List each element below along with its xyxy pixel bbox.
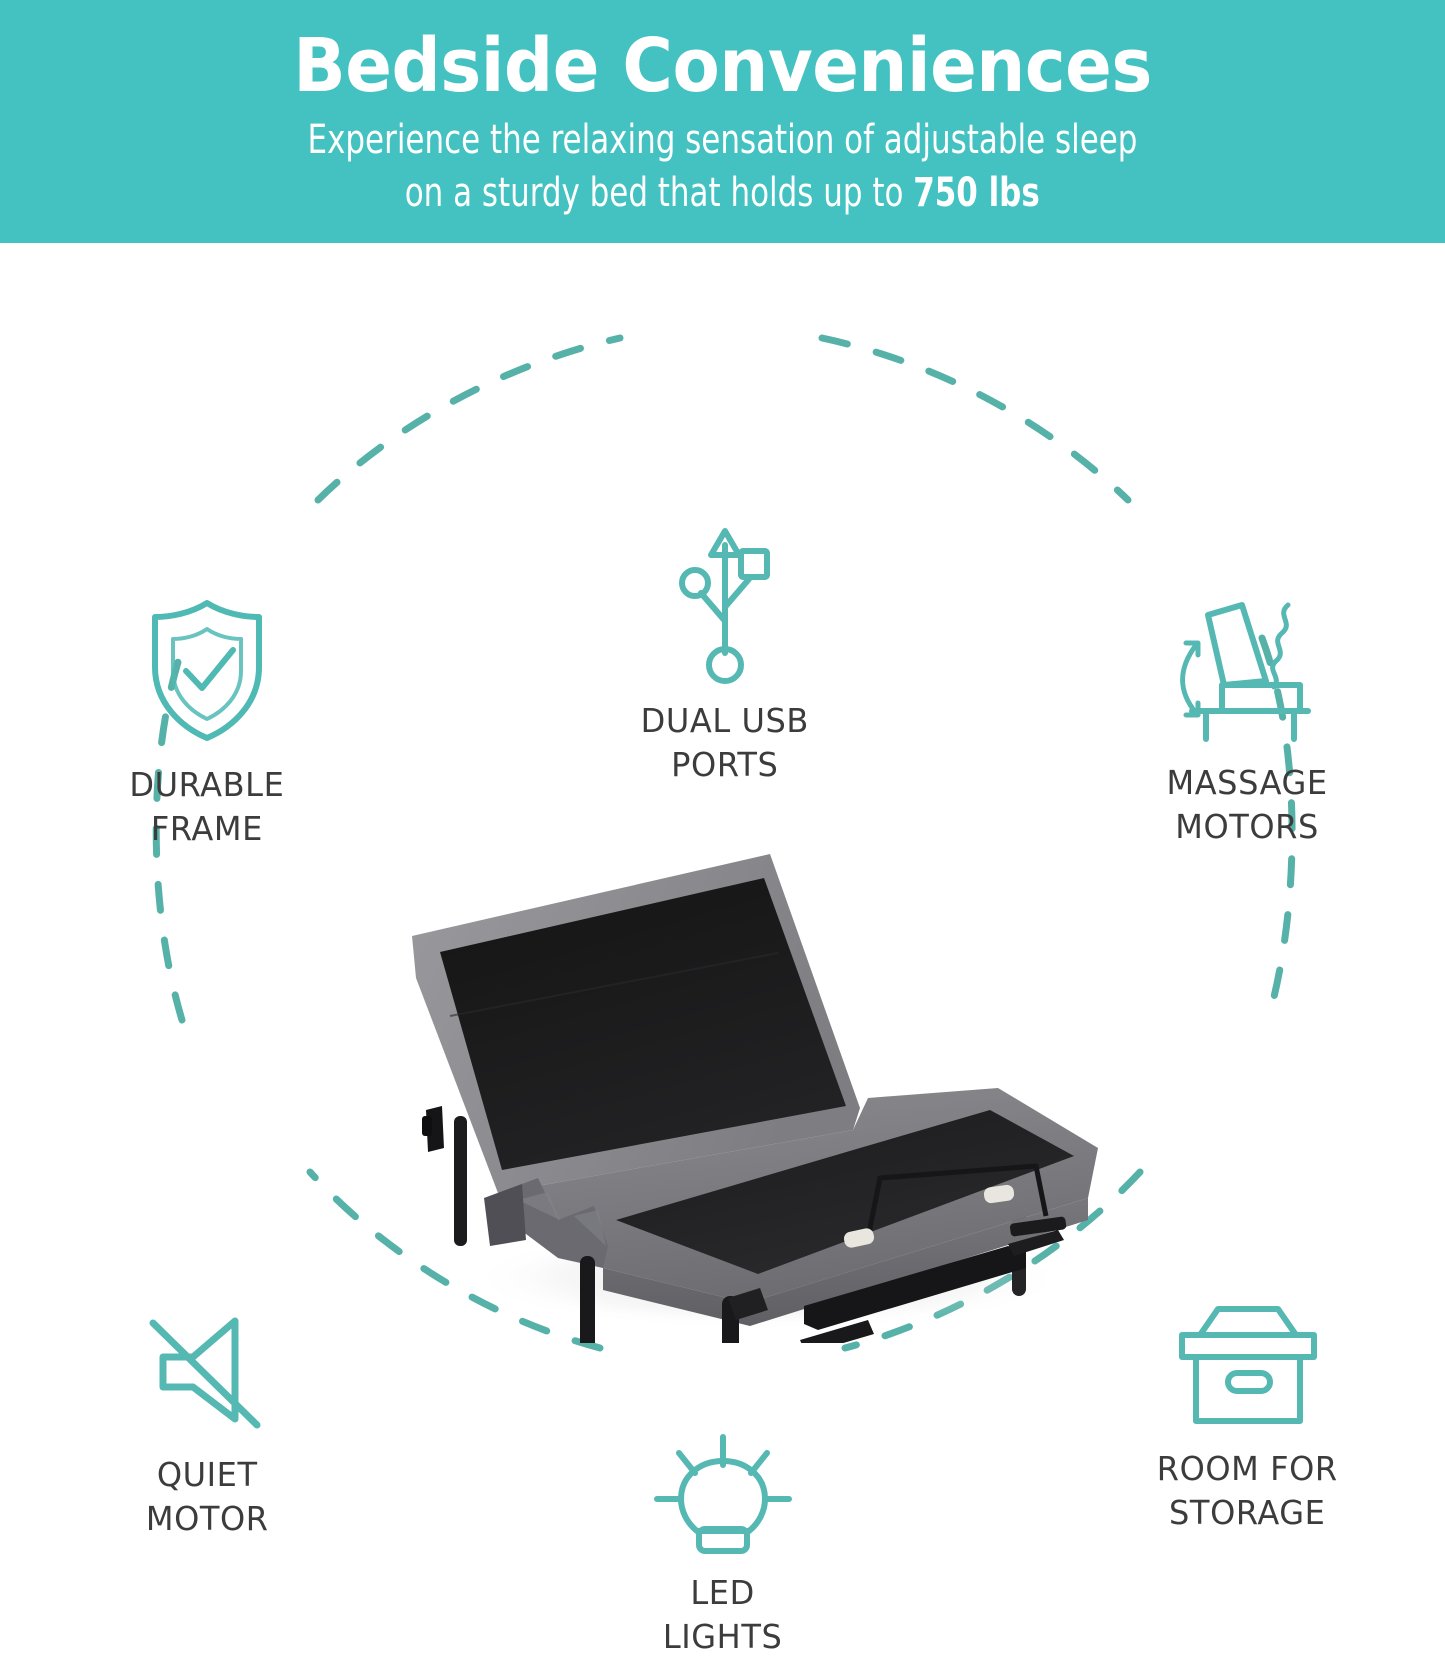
feature-label-room-for-storage: ROOM FOR STORAGE [1157,1447,1338,1535]
header-banner: Bedside Conveniences Experience the rela… [0,0,1445,243]
feature-massage-motors: MASSAGE MOTORS [1092,593,1402,849]
shield-check-icon [143,595,271,745]
storage-box-icon-wrap [1174,1301,1320,1429]
page-title: Bedside Conveniences [293,24,1152,108]
usb-icon-wrap [679,525,771,685]
muted-speaker-icon [141,1311,273,1435]
weight-capacity-value: 750 lbs [913,170,1040,216]
infographic-stage: DURABLE FRAME [0,243,1445,1445]
feature-led-lights: LED LIGHTS [608,1433,838,1659]
banner-subtitle-line1: Experience the relaxing sensation of adj… [308,114,1138,167]
feature-label-massage-motors: MASSAGE MOTORS [1166,761,1327,849]
feature-label-led-lights: LED LIGHTS [663,1571,783,1659]
feature-quiet-motor: QUIET MOTOR [52,1311,362,1541]
light-bulb-icon [653,1433,793,1557]
banner-subtitle-line2: on a sturdy bed that holds up to 750 lbs [405,167,1040,220]
feature-label-quiet-motor: QUIET MOTOR [146,1453,269,1541]
adjustable-bed-vibration-icon [1162,593,1332,743]
muted-speaker-icon-wrap [141,1311,273,1435]
usb-icon [679,525,771,685]
light-bulb-icon-wrap [653,1433,793,1557]
adjustable-bed-vibration-icon-wrap [1162,593,1332,743]
feature-durable-frame: DURABLE FRAME [52,595,362,851]
feature-room-for-storage: ROOM FOR STORAGE [1092,1301,1402,1535]
feature-label-dual-usb-ports: DUAL USB PORTS [641,699,809,787]
shield-check-icon-wrap [143,595,271,745]
storage-box-icon [1174,1301,1320,1429]
banner-subtitle-prefix: on a sturdy bed that holds up to [405,170,914,216]
feature-label-durable-frame: DURABLE FRAME [129,763,284,851]
feature-dual-usb-ports: DUAL USB PORTS [610,525,840,787]
adjustable-bed-base-image [398,848,1158,1343]
